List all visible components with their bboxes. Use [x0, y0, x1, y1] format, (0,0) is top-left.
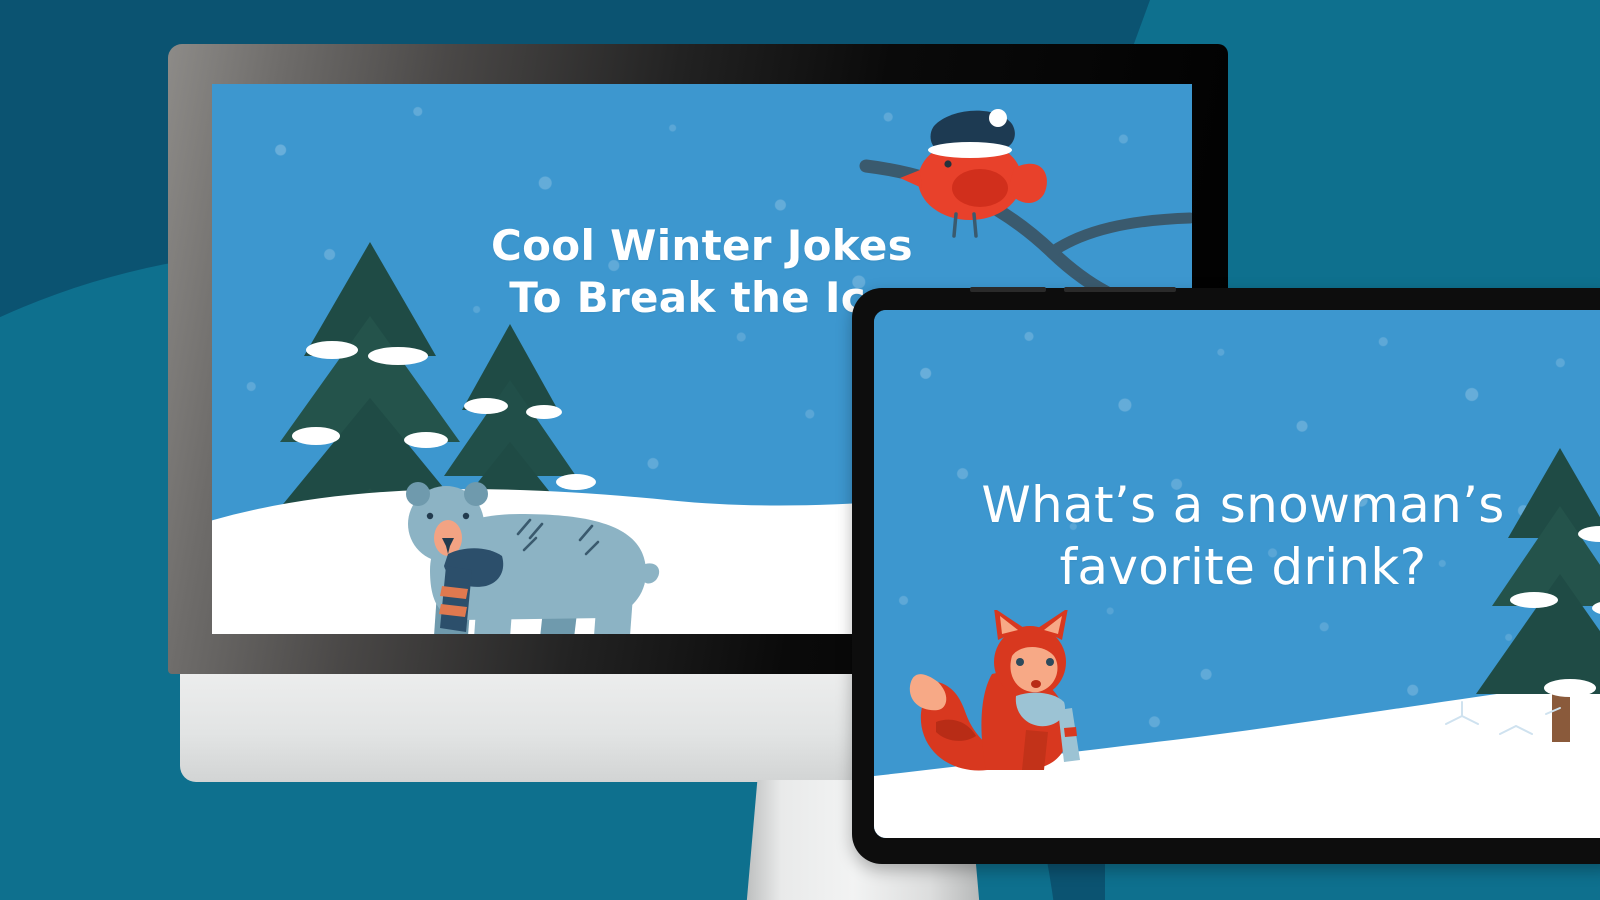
tablet-device[interactable]: What’s a snowman’s favorite drink? — [852, 288, 1600, 864]
fox-icon — [910, 610, 1080, 770]
tablet-button-volume[interactable] — [970, 287, 1046, 292]
joke-slide: What’s a snowman’s favorite drink? — [874, 310, 1600, 838]
slide-title-line-1: Cool Winter Jokes — [302, 220, 1102, 272]
joke-question-line-1: What’s a snowman’s — [930, 474, 1556, 536]
snow-sparkle-icon — [1428, 694, 1588, 754]
mockup-stage: Cool Winter Jokes To Break the Ice www.w… — [0, 0, 1600, 900]
tablet-button-power[interactable] — [1064, 287, 1176, 292]
joke-question: What’s a snowman’s favorite drink? — [874, 474, 1600, 598]
bear-icon — [406, 482, 659, 634]
tablet-screen[interactable]: What’s a snowman’s favorite drink? — [874, 310, 1600, 838]
joke-question-line-2: favorite drink? — [930, 536, 1556, 598]
bear-illustration — [390, 458, 690, 634]
fox-illustration — [908, 610, 1118, 790]
